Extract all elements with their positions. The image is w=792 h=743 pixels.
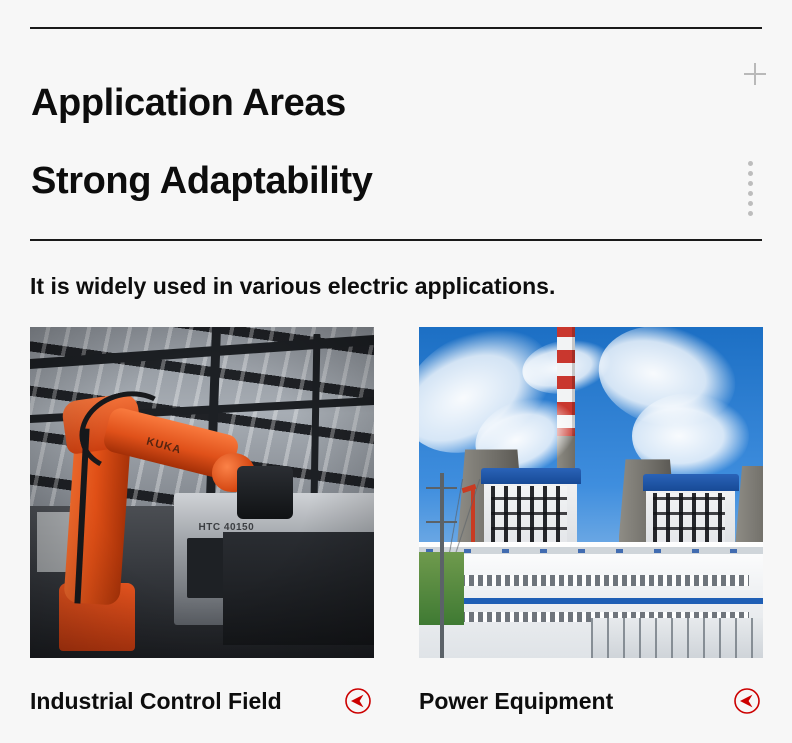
plus-icon[interactable] [744,63,766,85]
card-image-power-equipment [419,327,763,658]
arrow-left-circle-icon[interactable] [733,687,761,715]
page-title-line-1: Application Areas [31,64,691,142]
drag-handle-dots-icon[interactable] [748,161,756,216]
card-image-industrial-control-field: HTC 40150 KUKA [30,327,374,658]
card-footer: Power Equipment [419,680,763,722]
intro-text: It is widely used in various electric ap… [30,273,555,300]
handle-dot [748,171,753,176]
handle-dot [748,211,753,216]
page-title-line-2: Strong Adaptability [31,142,691,220]
handle-dot [748,201,753,206]
card-title: Power Equipment [419,688,613,715]
page-title: Application Areas Strong Adaptability [31,64,691,220]
application-card[interactable]: HTC 40150 KUKA Indus [30,327,374,658]
card-footer: Industrial Control Field [30,680,374,722]
card-title: Industrial Control Field [30,688,282,715]
application-areas-page: Application Areas Strong Adaptability It… [0,0,792,743]
handle-dot [748,191,753,196]
handle-dot [748,161,753,166]
top-divider [30,27,762,29]
handle-dot [748,181,753,186]
arrow-left-circle-icon[interactable] [344,687,372,715]
application-card[interactable]: Power Equipment [419,327,763,658]
section-divider [30,239,762,241]
